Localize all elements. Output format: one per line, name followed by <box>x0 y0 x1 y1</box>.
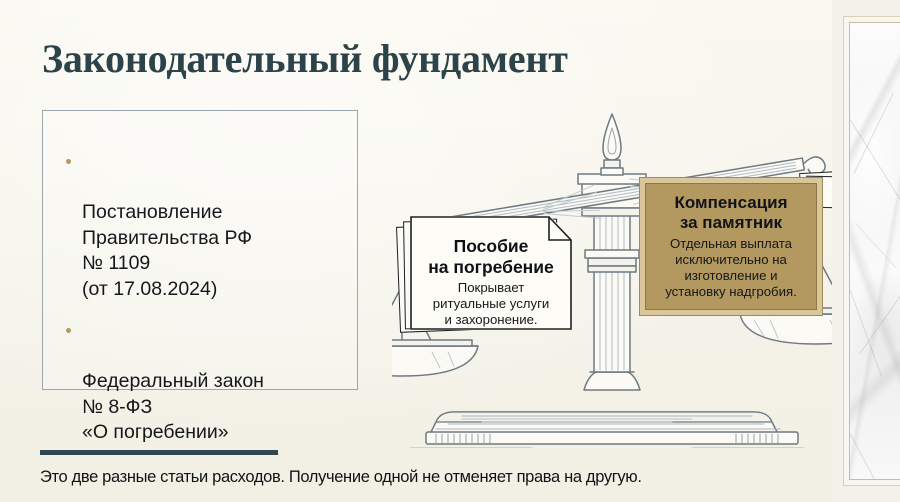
right-pan-plaque: Компенсация за памятник Отдельная выплат… <box>639 177 823 316</box>
legal-basis-box: Постановление Правительства РФ № 1109 (о… <box>42 110 358 390</box>
footer-divider <box>40 450 278 455</box>
left-pan-title: Пособие на погребение <box>410 236 572 278</box>
left-pan-subtitle: Покрывает ритуальные услуги и захоронени… <box>410 280 572 329</box>
right-pan-subtitle: Отдельная выплата исключительно на изгот… <box>665 236 797 301</box>
right-pan-title: Компенсация за памятник <box>674 193 787 233</box>
slide-canvas: Законодательный фундамент Постановление … <box>0 0 900 502</box>
page-title: Законодательный фундамент <box>42 36 568 82</box>
list-item-label: Постановление Правительства РФ № 1109 (о… <box>82 201 252 300</box>
list-item: Федеральный закон № 8-ФЗ «О погребении» <box>65 318 345 446</box>
legal-basis-list: Постановление Правительства РФ № 1109 (о… <box>65 149 345 446</box>
left-pan-document-stack: Пособие на погребение Покрывает ритуальн… <box>398 212 574 336</box>
right-pan-plaque-inner: Компенсация за памятник Отдельная выплат… <box>645 183 817 310</box>
list-item-label: Федеральный закон № 8-ФЗ «О погребении» <box>82 370 264 443</box>
bullet-dot-icon <box>66 159 71 164</box>
marble-texture <box>849 22 900 480</box>
list-item: Постановление Правительства РФ № 1109 (о… <box>65 149 345 302</box>
bullet-dot-icon <box>66 328 71 333</box>
marble-outer-frame <box>843 16 900 486</box>
footer-caption: Это две разные статьи расходов. Получени… <box>40 466 642 488</box>
left-pan-label: Пособие на погребение Покрывает ритуальн… <box>410 218 572 329</box>
marble-decor-panel <box>832 0 900 502</box>
